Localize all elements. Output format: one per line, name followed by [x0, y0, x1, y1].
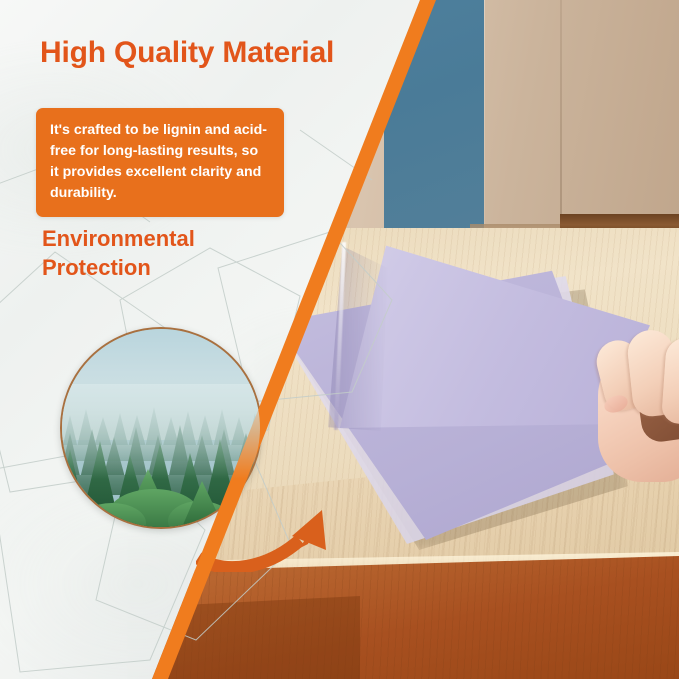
- section-subheading: Environmental Protection: [42, 224, 195, 282]
- hand-lifting-paper: [586, 318, 679, 478]
- product-feature-infographic: High Quality Material It's crafted to be…: [0, 0, 679, 679]
- forest-fog-overlay: [62, 384, 260, 479]
- wall-corner-seam: [560, 0, 562, 238]
- feature-description-callout: It's crafted to be lignin and acid-free …: [36, 108, 284, 217]
- page-title: High Quality Material: [40, 36, 334, 70]
- curved-arrow-pointing-up-right: [196, 492, 346, 572]
